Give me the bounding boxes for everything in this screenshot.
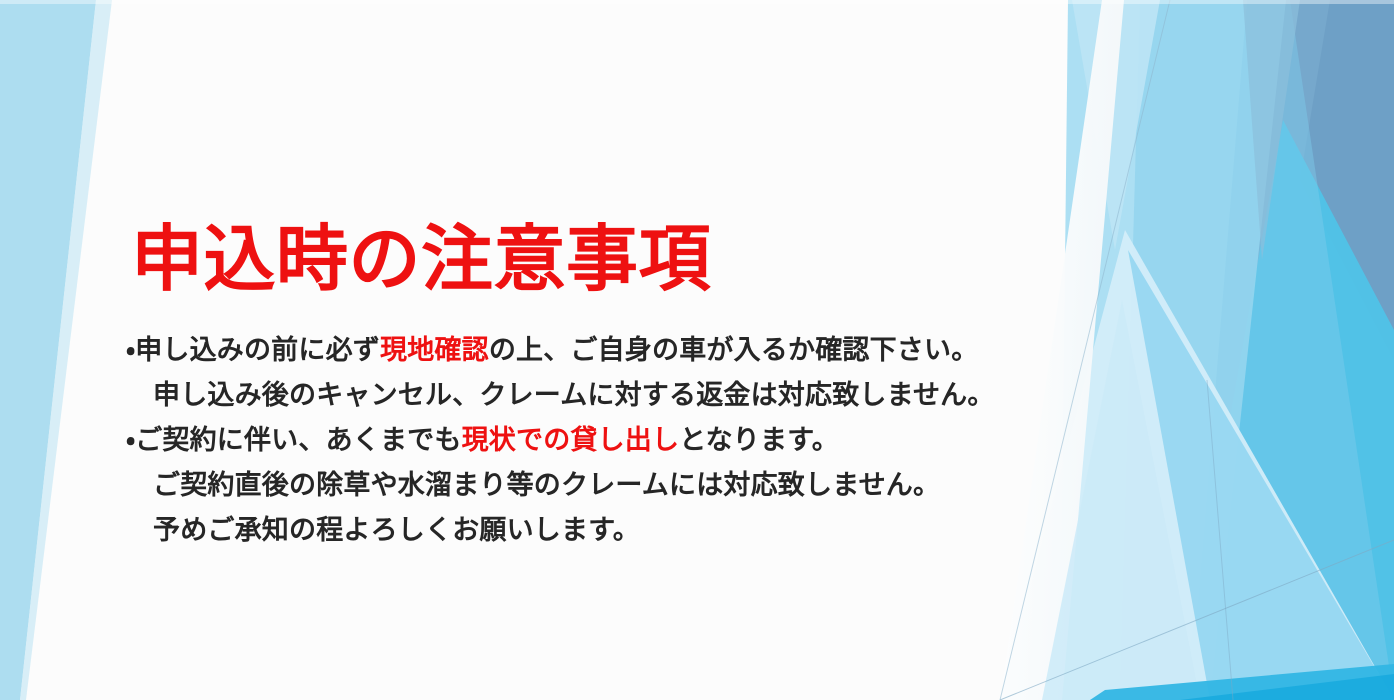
body-text: ご契約直後の除草や水溜まり等のクレームには対応致しません。: [153, 470, 940, 500]
body-line: 申し込み後のキャンセル、クレームに対する返金は対応致しません。: [126, 373, 1126, 418]
body-text: 申し込み後のキャンセル、クレームに対する返金は対応致しません。: [153, 380, 995, 410]
body-line: ご契約直後の除草や水溜まり等のクレームには対応致しません。: [126, 463, 1126, 508]
body-text: の上、ご自身の車が入るか確認下さい。: [489, 335, 979, 365]
highlighted-text: 現状での貸し出し: [462, 425, 680, 455]
body-text-block: ・申し込みの前に必ず現地確認の上、ご自身の車が入るか確認下さい。申し込み後のキャ…: [126, 328, 1126, 553]
body-line: 予めご承知の程よろしくお願いします。: [126, 508, 1126, 553]
body-text: ご契約に伴い、あくまでも: [135, 425, 461, 455]
body-text: 予めご承知の程よろしくお願いします。: [153, 515, 640, 545]
bullet-marker: ・: [126, 335, 135, 365]
body-text: 申し込みの前に必ず: [135, 335, 380, 365]
highlighted-text: 現地確認: [380, 335, 489, 365]
body-text: となります。: [679, 425, 839, 455]
presentation-slide: 申込時の注意事項 ・申し込みの前に必ず現地確認の上、ご自身の車が入るか確認下さい…: [0, 0, 1394, 700]
body-line: ・ご契約に伴い、あくまでも現状での貸し出しとなります。: [126, 418, 1126, 463]
body-line: ・申し込みの前に必ず現地確認の上、ご自身の車が入るか確認下さい。: [126, 328, 1126, 373]
page-title: 申込時の注意事項: [131, 224, 711, 296]
slide-content: 申込時の注意事項 ・申し込みの前に必ず現地確認の上、ご自身の車が入るか確認下さい…: [0, 0, 1394, 700]
bullet-marker: ・: [126, 425, 135, 455]
